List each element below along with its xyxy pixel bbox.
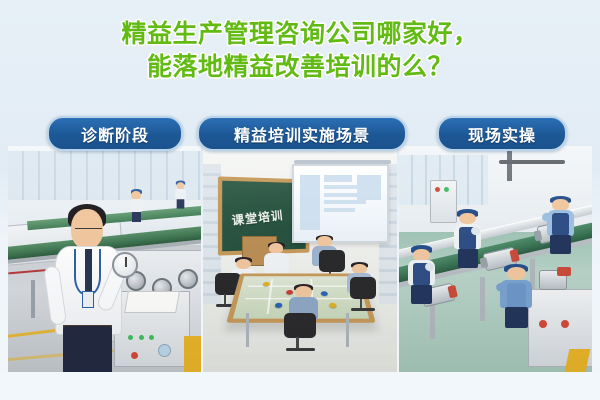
worker-body: [130, 199, 143, 212]
slide-row: [324, 208, 356, 212]
training-panel[interactable]: 课堂培训: [203, 146, 396, 372]
equipment-roller: [178, 269, 198, 289]
slide-row: [324, 200, 367, 204]
shopfloor-panel[interactable]: [399, 146, 592, 372]
worker-head: [507, 267, 526, 280]
line-worker: [545, 196, 575, 254]
factory-diagnosis-illustration: [8, 146, 201, 372]
page-title: 精益生产管理咨询公司哪家好， 能落地精益改善培训的么？: [0, 18, 600, 85]
title-line-2: 能落地精益改善培训的么？: [0, 51, 600, 84]
emergency-stop-button: [539, 320, 547, 328]
panel-strip: 课堂培训: [8, 146, 592, 372]
office-chair: [350, 277, 376, 313]
status-led-green: [149, 335, 154, 340]
emergency-stop-button: [561, 320, 569, 328]
classroom-training-illustration: 课堂培训: [203, 146, 396, 372]
red-cover: [557, 267, 571, 276]
badge-diagnosis[interactable]: 诊断阶段: [47, 116, 183, 151]
factory-windows: [8, 151, 201, 201]
chair-wheels: [286, 348, 315, 351]
chair-back: [350, 277, 376, 299]
person-head: [236, 259, 251, 269]
safety-marker: [184, 336, 201, 372]
footer-area: [0, 372, 600, 400]
status-led-red: [131, 352, 138, 359]
worker-body: [175, 189, 186, 200]
poster-root: 精益生产管理咨询公司哪家好， 能落地精益改善培训的么？ 诊断阶段 精益培训实施场…: [0, 0, 600, 400]
worker-overalls: [552, 213, 569, 236]
work-instruction-sheet: [124, 291, 180, 313]
status-led-green: [444, 187, 449, 192]
lanyard: [74, 249, 101, 294]
gauge-dial: [158, 344, 171, 357]
title-line-1: 精益生产管理咨询公司哪家好，: [0, 18, 600, 51]
chair-wheels: [351, 308, 375, 311]
table-leg: [346, 313, 349, 347]
table-leg: [246, 313, 249, 347]
game-piece-blue: [321, 291, 328, 296]
badge-onsite-practice[interactable]: 现场实操: [437, 116, 567, 151]
worker-head: [552, 199, 569, 211]
chair-back: [284, 313, 316, 338]
worker-legs: [458, 249, 478, 268]
worker-head: [413, 249, 430, 261]
chair-back: [319, 250, 345, 272]
worker-legs: [505, 307, 528, 328]
background-worker: [175, 182, 186, 208]
worker-overalls: [507, 283, 526, 309]
overhead-pipe: [499, 160, 565, 164]
worker-legs: [177, 199, 185, 208]
id-badge: [82, 291, 94, 308]
worker-head: [459, 213, 476, 225]
worker-legs: [411, 285, 431, 304]
worker-legs: [132, 212, 141, 222]
glasses-icon: [75, 228, 101, 236]
diagnosis-panel[interactable]: [8, 146, 201, 372]
status-led-red: [435, 187, 440, 192]
line-worker: [406, 245, 436, 303]
rail-post: [31, 280, 35, 318]
slide-block: [357, 175, 381, 200]
office-chair: [284, 313, 316, 353]
badge-row: 诊断阶段 精益培训实施场景 现场实操: [0, 116, 600, 150]
projector-screen: [292, 164, 389, 243]
game-piece-yellow: [329, 303, 337, 308]
background-worker: [130, 191, 143, 221]
conveyor-leg: [480, 277, 485, 321]
badge-training-scene[interactable]: 精益培训实施场景: [197, 116, 407, 151]
worker-legs: [550, 235, 570, 254]
overhead-duct: [507, 151, 512, 181]
consultant-figure: [51, 209, 128, 372]
projector-screen-roller: [294, 160, 391, 164]
status-led-green: [128, 335, 133, 340]
status-led-green: [139, 335, 144, 340]
blackboard-text: 课堂培训: [230, 206, 283, 229]
slide-row: [324, 175, 352, 182]
line-worker: [453, 209, 483, 267]
person-torso: [264, 253, 289, 273]
game-piece-blue: [275, 303, 283, 308]
line-worker-front: [499, 264, 533, 328]
slide-row: [324, 193, 359, 197]
slide-column: [300, 175, 320, 230]
consultant-pants: [63, 326, 112, 372]
assembly-line-illustration: [399, 146, 592, 372]
